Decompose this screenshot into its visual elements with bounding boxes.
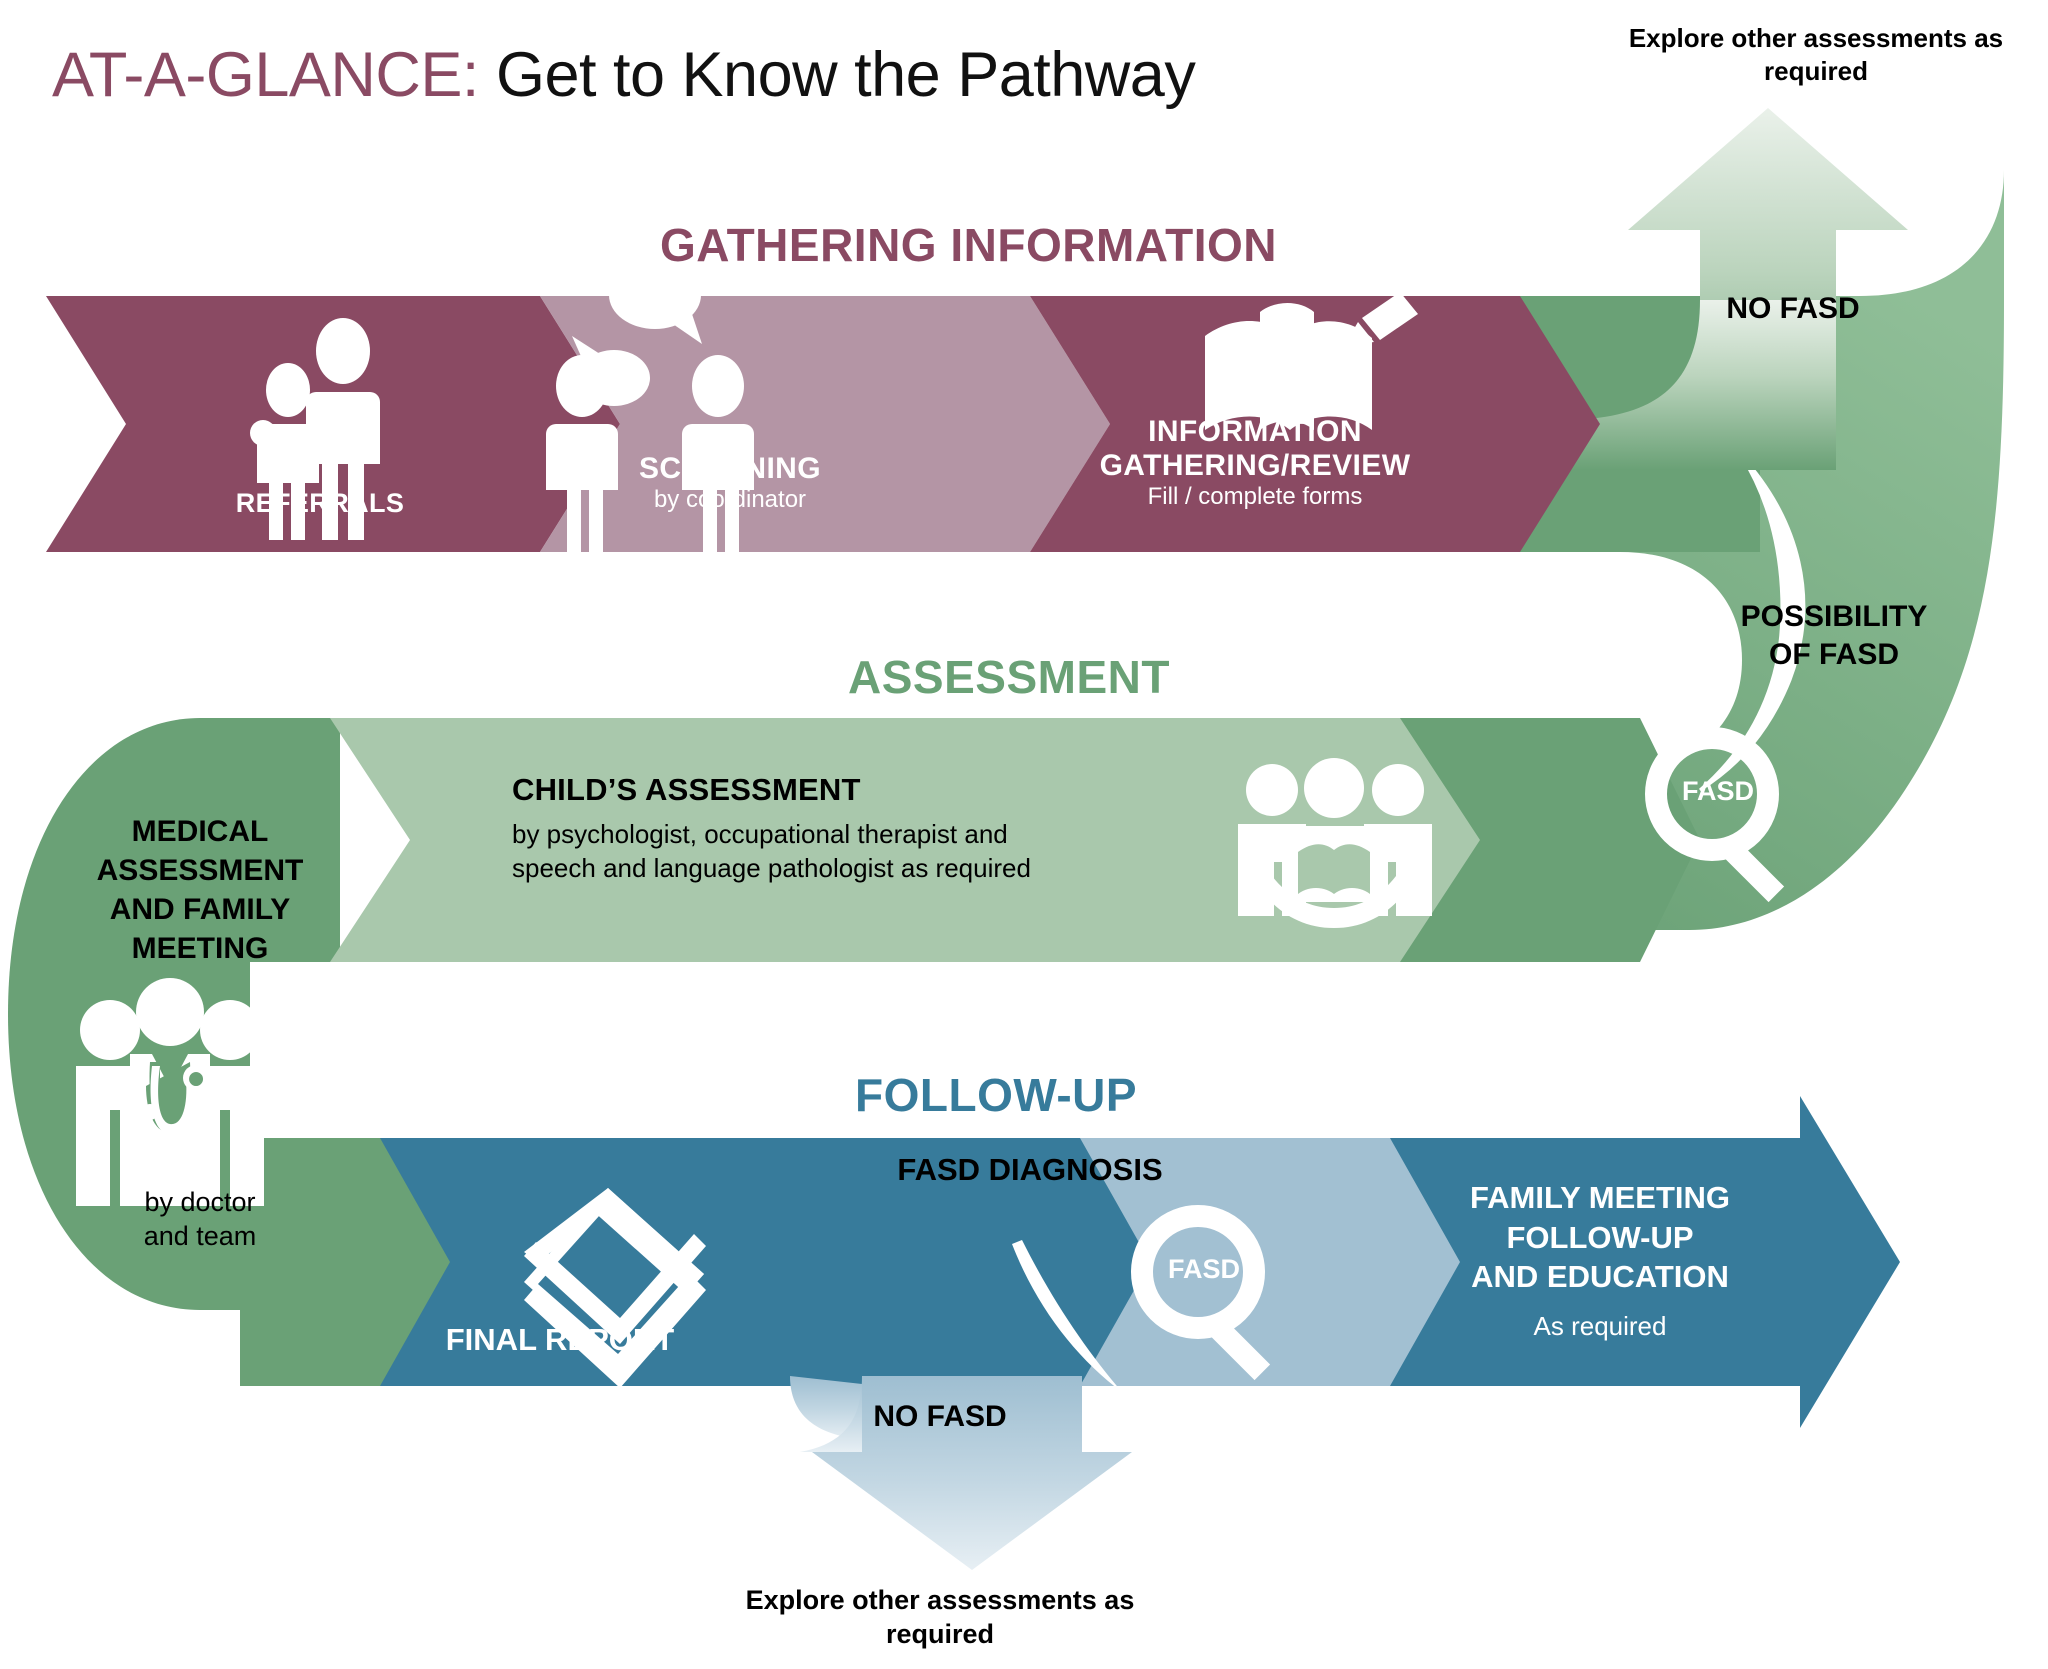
label-no-fasd-top: NO FASD — [1668, 292, 1918, 326]
page-title-accent: AT-A-GLANCE: — [52, 40, 479, 110]
label-referrals: REFERRALS — [170, 488, 470, 519]
section-heading-assessment: ASSESSMENT — [848, 650, 1170, 704]
page-title: AT-A-GLANCE: Get to Know the Pathway — [52, 42, 1195, 108]
label-referrals-title: REFERRALS — [170, 488, 470, 519]
label-information-line2: GATHERING/REVIEW — [1040, 449, 1470, 483]
label-information-line1: INFORMATION — [1040, 415, 1470, 449]
label-medical-line4: MEETING — [40, 929, 360, 968]
label-explore-other-assessments-top: Explore other assessments as required — [1596, 22, 2036, 87]
label-no-fasd-bottom: NO FASD — [790, 1400, 1090, 1434]
label-explore-other-assessments-bottom: Explore other assessments as required — [700, 1584, 1180, 1652]
fasd-magnifier-label-blue: FASD — [1154, 1254, 1254, 1285]
page-title-main: Get to Know the Pathway — [496, 40, 1195, 110]
label-childs-assessment: CHILD’S ASSESSMENT by psychologist, occu… — [512, 772, 1192, 886]
section-heading-followup: FOLLOW-UP — [855, 1068, 1137, 1122]
label-family-meeting-sub: As required — [1400, 1311, 1800, 1342]
label-screening: SCREENING by coordinator — [580, 452, 880, 514]
label-possibility-line1: POSSIBILITY — [1674, 598, 1994, 636]
label-screening-title: SCREENING — [580, 452, 880, 486]
label-family-meeting-line3: AND EDUCATION — [1400, 1257, 1800, 1297]
label-final-report: FINAL REPORT — [380, 1322, 740, 1358]
label-screening-sub: by coordinator — [580, 486, 880, 514]
label-medical-assessment: MEDICAL ASSESSMENT AND FAMILY MEETING — [40, 812, 360, 968]
label-doctor-line1: by doctor — [80, 1186, 320, 1220]
label-childs-assessment-sub2: speech and language pathologist as requi… — [512, 852, 1192, 886]
label-by-doctor-and-team: by doctor and team — [80, 1186, 320, 1254]
label-fasd-diagnosis: FASD DIAGNOSIS — [810, 1152, 1250, 1188]
label-family-meeting-line2: FOLLOW-UP — [1400, 1218, 1800, 1258]
label-possibility-of-fasd: POSSIBILITY OF FASD — [1674, 598, 1994, 675]
label-family-meeting-line1: FAMILY MEETING — [1400, 1178, 1800, 1218]
label-information-gathering: INFORMATION GATHERING/REVIEW Fill / comp… — [1040, 415, 1470, 511]
label-medical-line2: ASSESSMENT — [40, 851, 360, 890]
label-information-sub: Fill / complete forms — [1040, 483, 1470, 511]
label-childs-assessment-title: CHILD’S ASSESSMENT — [512, 772, 1192, 808]
label-childs-assessment-sub1: by psychologist, occupational therapist … — [512, 818, 1192, 852]
label-medical-line1: MEDICAL — [40, 812, 360, 851]
fasd-magnifier-label-green: FASD — [1668, 776, 1768, 807]
infographic-canvas: AT-A-GLANCE: Get to Know the Pathway GAT… — [0, 0, 2048, 1669]
label-medical-line3: AND FAMILY — [40, 890, 360, 929]
label-doctor-line2: and team — [80, 1220, 320, 1254]
medical-team-stethoscope-icon — [76, 978, 264, 1206]
section-heading-gathering: GATHERING INFORMATION — [660, 218, 1277, 272]
label-possibility-line2: OF FASD — [1674, 636, 1994, 674]
label-family-meeting-followup: FAMILY MEETING FOLLOW-UP AND EDUCATION A… — [1400, 1178, 1800, 1342]
